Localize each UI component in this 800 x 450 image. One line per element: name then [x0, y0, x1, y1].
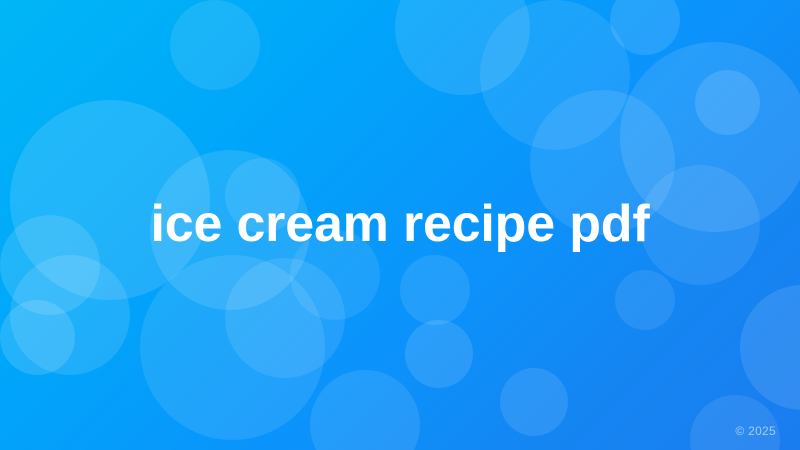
- copyright-notice: © 2025: [735, 424, 776, 438]
- title-banner: ice cream recipe pdf © 2025: [0, 0, 800, 450]
- page-title: ice cream recipe pdf: [111, 195, 690, 255]
- title-container: ice cream recipe pdf: [0, 0, 800, 450]
